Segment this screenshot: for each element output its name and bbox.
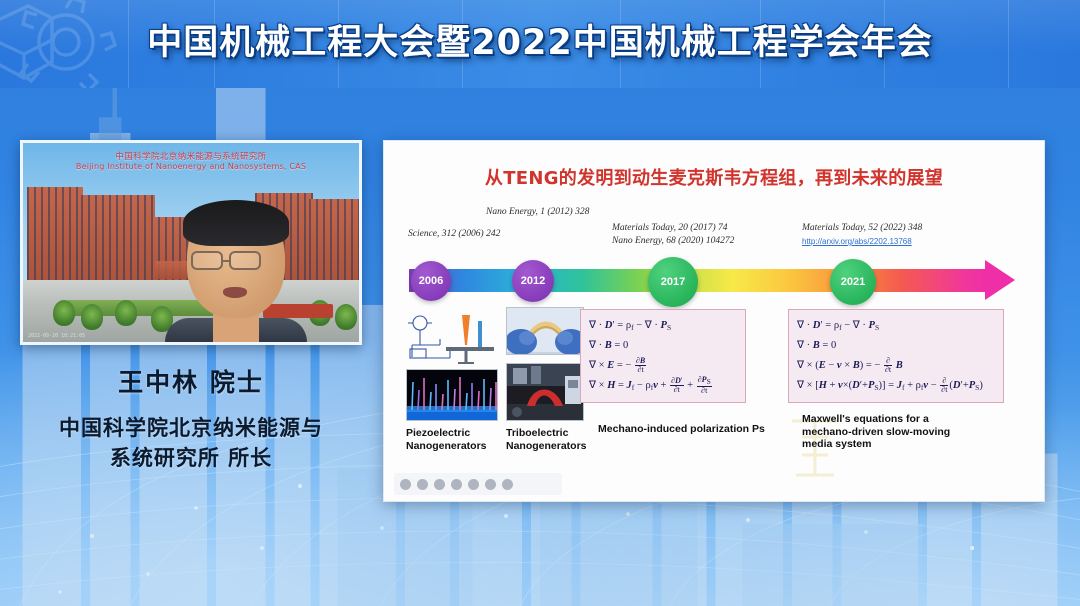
presentation-slide[interactable]: 从TENG的发明到动生麦克斯韦方程组，再到未来的展望 Nano Energy, … [383,140,1045,502]
timeline-node-2012[interactable]: 2012 [512,260,554,302]
caption-piezoelectric: Piezoelectric Nanogenerators [406,427,487,452]
video-timestamp: 2022-09-20 10:21:05 [28,333,85,339]
speaker-affiliation-line1: 中国科学院北京纳米能源与 [20,413,362,443]
citation-nano-energy-2020: Nano Energy, 68 (2020) 104272 [612,236,734,246]
slide-title: 从TENG的发明到动生麦克斯韦方程组，再到未来的展望 [384,164,1044,190]
afm-tip-diagram [406,311,498,367]
equation-row: ∇ × E = − ∂B∂t [589,356,737,376]
ellipsis-icon[interactable] [485,479,496,490]
video-overlay-institute-cn: 中国科学院北京纳米能源与系统研究所 [23,150,359,162]
citation-arxiv-link[interactable]: http://arxiv.org/abs/2202.13768 [802,237,912,246]
teng-lab-setup-photo [506,363,584,421]
timeline-node-2021[interactable]: 2021 [830,259,876,305]
caption-maxwell-moving-media: Maxwell's equations for a mechano-driven… [802,413,950,451]
citation-materials-today-2017: Materials Today, 20 (2017) 74 [612,223,728,233]
timeline-gradient-bar [409,269,987,292]
caption-mechano-polarization: Mechano-induced polarization Ps [598,423,765,436]
equation-row: ∇ · D′ = ρf − ∇ · PS [589,316,737,336]
equation-row: ∇ · B = 0 [589,336,737,356]
more-options-icon[interactable] [502,479,513,490]
flexible-teng-device-photo [506,307,584,355]
slide-list-icon[interactable] [434,479,445,490]
equation-box-moving-media: ∇ · D′ = ρf − ∇ · PS ∇ · B = 0 ∇ × (E − … [788,309,1004,403]
timeline-arrowhead-icon [985,260,1015,300]
equation-row: ∇ × [H + v×(D′+PS)] = Jf + ρfv − ∂∂t(D′+… [797,376,995,396]
zoom-icon[interactable] [451,479,462,490]
equation-row: ∇ × H = Jf − ρfv + ∂D′∂t + ∂PS∂t [589,376,737,396]
citation-materials-today-2022: Materials Today, 52 (2022) 348 [802,223,922,233]
speaker-name: 王中林 院士 [20,363,362,399]
banner-title: 中国机械工程大会暨2022中国机械工程学会年会 [0,14,1080,65]
presentation-toolbar[interactable] [394,473,562,495]
speaker-affiliation: 中国科学院北京纳米能源与 系统研究所 所长 [20,413,362,474]
pen-icon[interactable] [400,479,411,490]
speaker-portrait [161,192,311,342]
eyeglasses-left [191,251,223,270]
equation-row: ∇ × (E − v × B) = − ∂∂t B [797,356,995,376]
caption-triboelectric: Triboelectric Nanogenerators [506,427,587,452]
laser-pointer-icon[interactable] [417,479,428,490]
magnifier-icon[interactable] [468,479,479,490]
speaker-video-feed[interactable]: 中国科学院北京纳米能源与系统研究所 Beijing Institute of N… [20,140,362,345]
equation-box-mechano-polarization: ∇ · D′ = ρf − ∇ · PS ∇ · B = 0 ∇ × E = −… [580,309,746,403]
equation-row: ∇ · B = 0 [797,336,995,356]
eyeglasses-right [229,251,261,270]
speaker-panel: 中国科学院北京纳米能源与系统研究所 Beijing Institute of N… [20,140,362,474]
video-overlay-institute-en: Beijing Institute of Nanoenergy and Nano… [23,162,359,171]
speaker-affiliation-line2: 系统研究所 所长 [20,443,362,473]
nanowire-array-image [406,369,498,421]
timeline-node-2006[interactable]: 2006 [411,261,451,301]
citation-nano-energy-2012: Nano Energy, 1 (2012) 328 [486,207,589,217]
header-banner: 中国机械工程大会暨2022中国机械工程学会年会 [0,0,1080,88]
equation-row: ∇ · D′ = ρf − ∇ · PS [797,316,995,336]
citation-science-2006: Science, 312 (2006) 242 [408,229,500,239]
timeline-node-2017[interactable]: 2017 [648,257,698,307]
